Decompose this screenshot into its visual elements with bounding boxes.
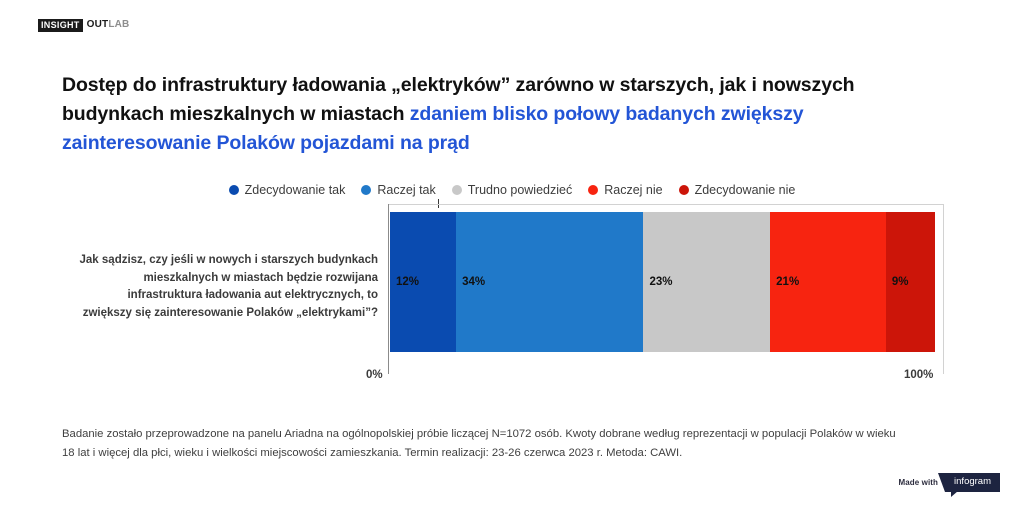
bar-segment-raczej-tak[interactable]: 34%: [456, 212, 643, 352]
category-label-line-3: zwiększy się zainteresowanie Polaków „el…: [78, 305, 378, 323]
logo-lab-text: LAB: [108, 20, 129, 30]
bar-segment-zdecydowanie-tak[interactable]: 12%: [390, 212, 456, 352]
infogram-badge[interactable]: Made with infogram: [898, 473, 1000, 492]
category-label: Jak sądzisz, czy jeśli w nowych i starsz…: [78, 252, 378, 322]
logo-out-text: OUT: [87, 20, 109, 30]
legend-item-3[interactable]: Raczej nie: [588, 183, 662, 197]
category-label-line-0: Jak sądzisz, czy jeśli w nowych i starsz…: [78, 252, 378, 270]
legend-swatch-icon-3: [588, 185, 598, 195]
plot-top-border: [388, 204, 944, 205]
logo-insight-text: INSIGHT: [38, 19, 83, 32]
axis-line-right: [943, 204, 944, 374]
legend-label-2: Trudno powiedzieć: [468, 183, 572, 197]
badge-made-with-label: Made with: [898, 478, 938, 487]
bar-segment-raczej-nie[interactable]: 21%: [770, 212, 886, 352]
footnote-line-1: Badanie zostało przeprowadzone na panelu…: [62, 425, 962, 444]
bar-segment-value-3: 21%: [776, 276, 799, 288]
bar-segment-value-2: 23%: [649, 276, 672, 288]
legend-swatch-icon-0: [229, 185, 239, 195]
bar-segment-value-0: 12%: [396, 276, 419, 288]
page-title: Dostęp do infrastruktury ładowania „elek…: [62, 71, 942, 158]
legend-label-3: Raczej nie: [604, 183, 662, 197]
legend-item-1[interactable]: Raczej tak: [361, 183, 435, 197]
category-label-line-1: mieszkalnych w miastach będzie rozwijana: [78, 270, 378, 288]
axis-tick-max: 100%: [904, 369, 933, 381]
legend-item-4[interactable]: Zdecydowanie nie: [679, 183, 796, 197]
legend-swatch-icon-1: [361, 185, 371, 195]
legend-item-0[interactable]: Zdecydowanie tak: [229, 183, 346, 197]
brand-logo: INSIGHT OUT LAB: [38, 18, 129, 32]
bar-segment-value-4: 9%: [892, 276, 909, 288]
chart-legend: Zdecydowanie tak Raczej tak Trudno powie…: [0, 183, 1024, 197]
legend-swatch-icon-4: [679, 185, 689, 195]
legend-swatch-icon-2: [452, 185, 462, 195]
axis-tick-min: 0%: [366, 369, 383, 381]
stacked-bar: 12% 34% 23% 21% 9%: [390, 212, 941, 352]
axis-line-left: [388, 204, 389, 374]
bar-segment-value-1: 34%: [462, 276, 485, 288]
legend-label-0: Zdecydowanie tak: [245, 183, 346, 197]
methodology-footnote: Badanie zostało przeprowadzone na panelu…: [62, 425, 962, 463]
legend-label-1: Raczej tak: [377, 183, 435, 197]
category-label-line-2: infrastruktura ładowania aut elektryczny…: [78, 287, 378, 305]
bar-segment-zdecydowanie-nie[interactable]: 9%: [886, 212, 936, 352]
badge-product-name: infogram: [945, 473, 1000, 492]
legend-label-4: Zdecydowanie nie: [695, 183, 796, 197]
footnote-line-2: 18 lat i więcej dla płci, wieku i wielko…: [62, 444, 962, 463]
bar-segment-trudno-powiedziec[interactable]: 23%: [643, 212, 770, 352]
legend-item-2[interactable]: Trudno powiedzieć: [452, 183, 572, 197]
